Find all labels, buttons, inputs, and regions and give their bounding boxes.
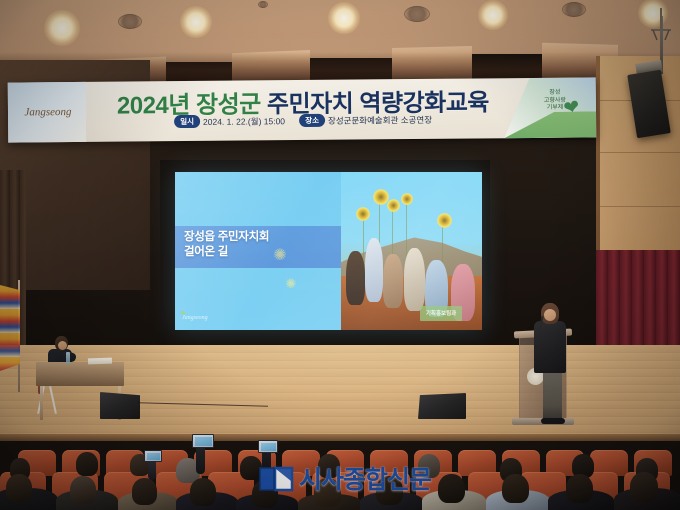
- phone-screen: [195, 437, 212, 446]
- audience-head: [630, 472, 658, 502]
- stage-monitor-speaker: [100, 392, 140, 419]
- smartphone: [192, 434, 214, 448]
- documents-on-table: [88, 358, 112, 365]
- presenter-face: [544, 309, 556, 321]
- water-bottle: [66, 352, 70, 364]
- ceiling-vent: [118, 14, 142, 29]
- ceiling-vent: [562, 2, 586, 17]
- smartphone: [144, 450, 162, 462]
- audience-head: [76, 452, 98, 476]
- wood-panel-seam: [596, 206, 680, 207]
- open-book-logo-icon: [258, 463, 294, 493]
- banner-place-pill: 장소: [299, 114, 325, 127]
- presenter-legs: [543, 368, 562, 422]
- ceiling-vent: [404, 6, 430, 22]
- lighting-truss: [648, 8, 674, 42]
- phone-screen: [147, 453, 160, 460]
- banner-place-text: 장성군문화예술회관 소공연장: [328, 115, 432, 126]
- projection-screen: 장성읍 주민자치회 걸어온 길 ✺ ✺: [175, 172, 482, 330]
- banner-date-text: 2024. 1. 22.(월) 15:00: [203, 116, 285, 127]
- audience-head: [190, 478, 216, 506]
- audience-head: [438, 474, 465, 503]
- ceiling-downlight: [44, 10, 80, 46]
- banner-subtitle: 일시2024. 1. 22.(월) 15:00 장소장성군문화예술회관 소공연장: [72, 112, 534, 129]
- watermark-text: 시사종합신문: [299, 460, 431, 496]
- smartphone: [258, 440, 278, 453]
- audience-head: [70, 476, 96, 504]
- head-table: [36, 362, 124, 386]
- audience-head: [132, 478, 157, 505]
- photo-canvas: Jangseong 2024년 장성군 주민자치 역량강화교육 일시2024. …: [0, 0, 680, 510]
- hometown-love-emblem: 장성 고향사랑 기부제 ❤: [524, 85, 586, 130]
- audience-head: [6, 474, 32, 502]
- audience-head: [502, 474, 529, 503]
- screen-glare: [175, 172, 482, 330]
- ceiling-downlight: [478, 0, 508, 30]
- event-banner: Jangseong 2024년 장성군 주민자치 역량강화교육 일시2024. …: [8, 77, 597, 142]
- phone-screen: [261, 443, 276, 451]
- watermark: 시사종합신문: [258, 456, 434, 500]
- seated-official-face: [58, 341, 67, 350]
- table-leg: [40, 386, 43, 420]
- stage-curtain-right: [596, 250, 680, 360]
- stage-monitor-speaker: [418, 393, 466, 419]
- ceremonial-flag: [0, 285, 20, 371]
- presenter-shoes: [541, 418, 565, 424]
- jangseong-logo: Jangseong: [20, 99, 76, 125]
- wood-panel-seam: [596, 152, 680, 153]
- banner-date-pill: 일시: [174, 115, 200, 128]
- audience-head: [566, 474, 593, 503]
- ceiling-downlight: [328, 2, 360, 34]
- ceiling-downlight: [180, 6, 212, 38]
- ceiling-vent: [258, 1, 268, 8]
